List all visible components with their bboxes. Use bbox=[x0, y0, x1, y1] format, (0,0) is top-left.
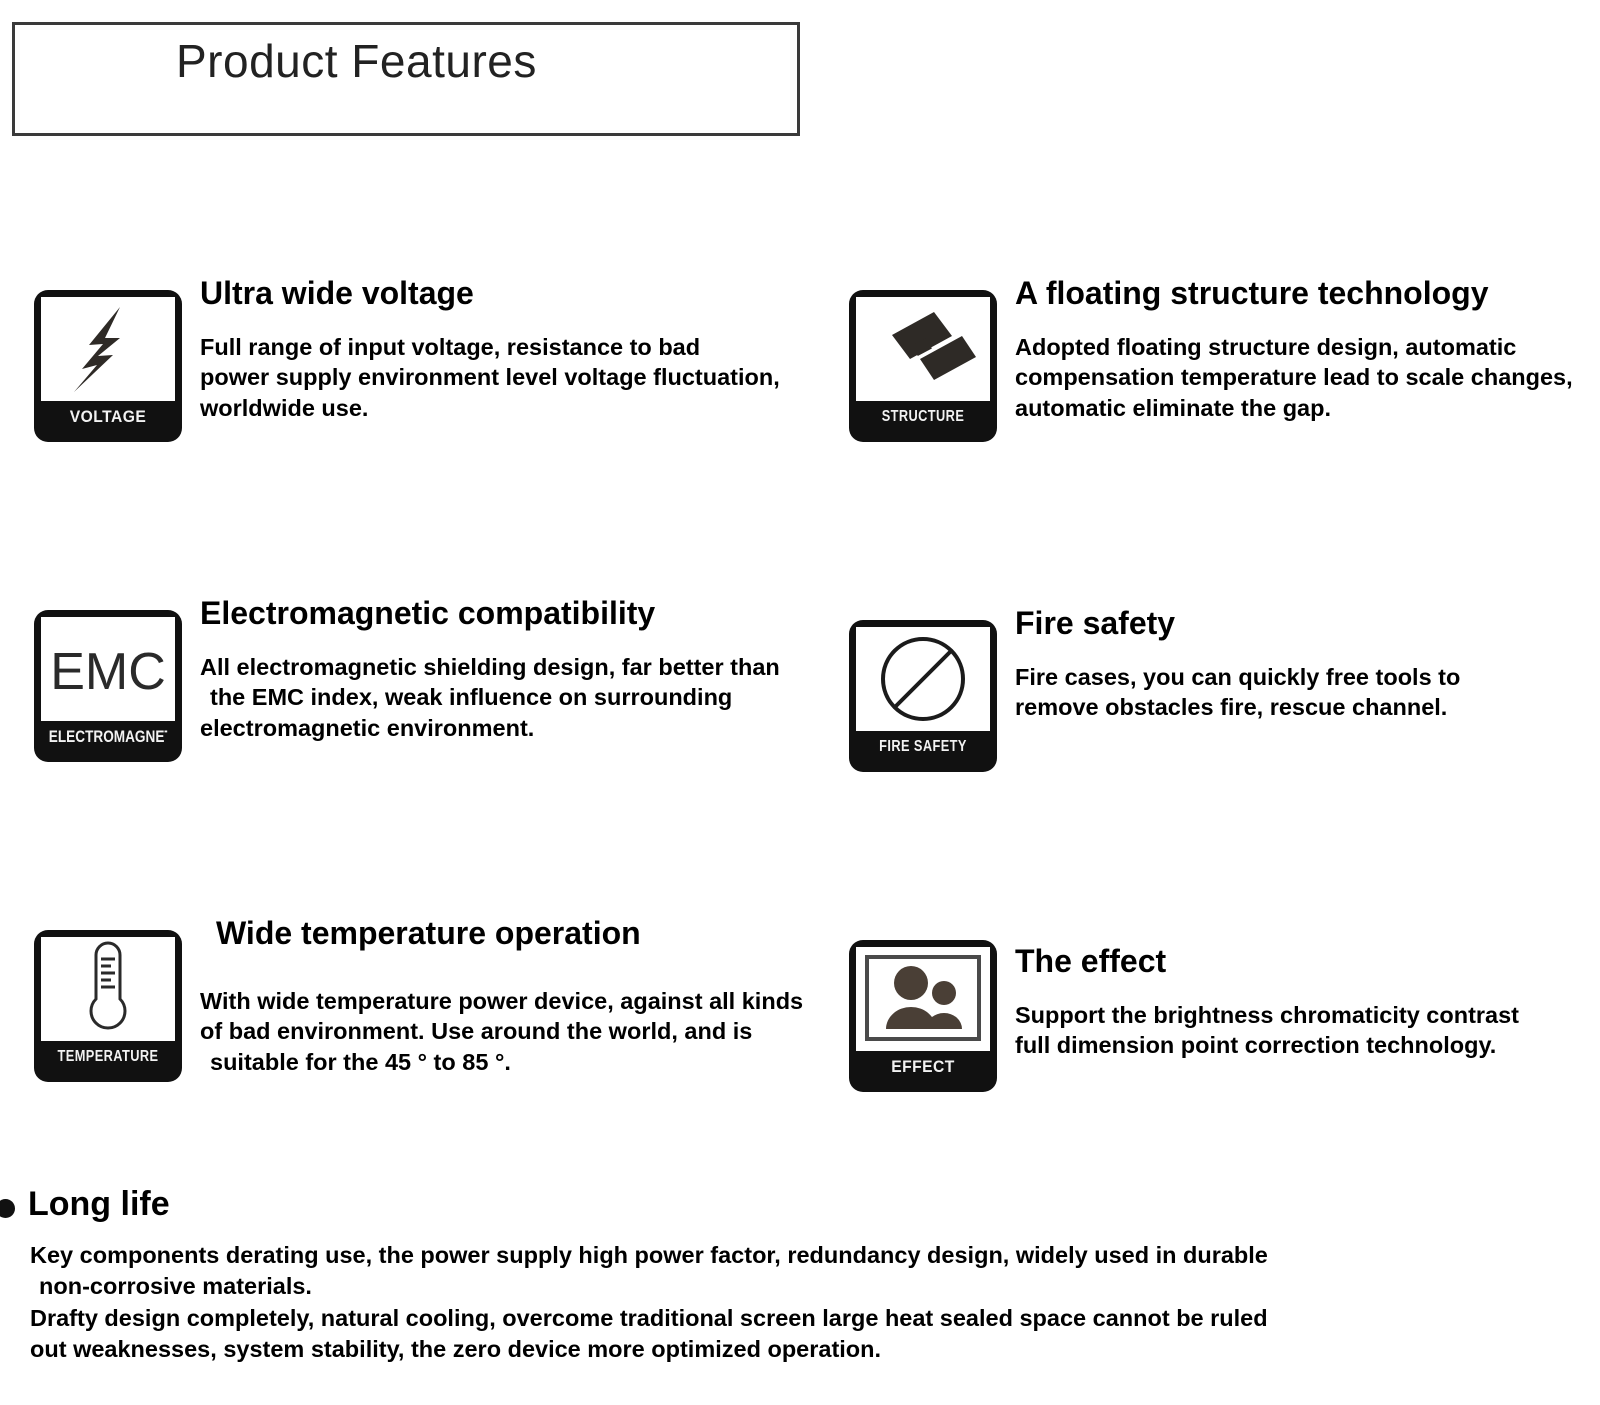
feature-title: Ultra wide voltage bbox=[200, 275, 850, 312]
feature-body: Full range of input voltage, resistance … bbox=[200, 332, 850, 424]
temperature-icon-caption: TEMPERATURE bbox=[49, 1036, 167, 1077]
feature-text-fire-safety: Fire safety Fire cases, you can quickly … bbox=[1015, 605, 1585, 723]
body-line: automatic eliminate the gap. bbox=[1015, 393, 1585, 424]
feature-item-emc: EMC ELECTROMAGNETISM Electromagnetic com… bbox=[34, 595, 850, 762]
feature-text-temperature: Wide temperature operation With wide tem… bbox=[200, 915, 850, 1077]
feature-body: Fire cases, you can quickly free tools t… bbox=[1015, 662, 1585, 723]
body-line: out weaknesses, system stability, the ze… bbox=[30, 1334, 1268, 1365]
floating-panels-glyph bbox=[856, 297, 990, 401]
lightning-bolt-glyph bbox=[41, 297, 175, 401]
body-line: Full range of input voltage, resistance … bbox=[200, 332, 850, 363]
feature-title: Fire safety bbox=[1015, 605, 1585, 642]
svg-text:EMC: EMC bbox=[50, 643, 166, 701]
feature-row: TEMPERATURE Wide temperature operation W… bbox=[0, 915, 1600, 1235]
feature-body: Adopted floating structure design, autom… bbox=[1015, 332, 1585, 424]
body-line: compensation temperature lead to scale c… bbox=[1015, 362, 1585, 393]
page-title: Product Features bbox=[176, 34, 537, 88]
body-line: of bad environment. Use around the world… bbox=[200, 1016, 850, 1047]
feature-text-effect: The effect Support the brightness chroma… bbox=[1015, 925, 1585, 1061]
body-line: suitable for the 45 ° to 85 °. bbox=[200, 1047, 850, 1078]
thermometer-glyph bbox=[41, 937, 175, 1041]
feature-text-emc: Electromagnetic compatibility All electr… bbox=[200, 595, 850, 743]
voltage-icon-face bbox=[41, 297, 175, 401]
feature-item-voltage: VOLTAGE Ultra wide voltage Full range of… bbox=[34, 275, 850, 442]
fire-safety-icon-face bbox=[856, 627, 990, 731]
effect-icon: EFFECT bbox=[849, 940, 997, 1092]
emc-icon-face: EMC bbox=[41, 617, 175, 721]
effect-icon-caption: EFFECT bbox=[855, 1046, 991, 1087]
feature-text-structure: A floating structure technology Adopted … bbox=[1015, 275, 1585, 423]
voltage-icon-caption: VOLTAGE bbox=[40, 396, 176, 437]
feature-body: With wide temperature power device, agai… bbox=[200, 986, 850, 1078]
feature-title: Wide temperature operation bbox=[200, 915, 850, 952]
feature-row: VOLTAGE Ultra wide voltage Full range of… bbox=[0, 275, 1600, 595]
fire-safety-icon-caption: FIRE SAFETY bbox=[864, 726, 982, 767]
body-line: Drafty design completely, natural coolin… bbox=[30, 1303, 1268, 1334]
emc-text-glyph: EMC bbox=[41, 617, 175, 721]
feature-body: Support the brightness chromaticity cont… bbox=[1015, 1000, 1585, 1061]
body-line: Fire cases, you can quickly free tools t… bbox=[1015, 662, 1585, 693]
prohibition-circle-glyph bbox=[856, 627, 990, 731]
structure-icon: STRUCTURE bbox=[849, 290, 997, 442]
body-line: remove obstacles fire, rescue channel. bbox=[1015, 692, 1585, 723]
temperature-icon: TEMPERATURE bbox=[34, 930, 182, 1082]
body-line: worldwide use. bbox=[200, 393, 850, 424]
feature-item-effect: EFFECT The effect Support the brightness… bbox=[849, 915, 1585, 1092]
effect-icon-face bbox=[856, 947, 990, 1051]
body-line: non-corrosive materials. bbox=[30, 1271, 1268, 1302]
feature-title: A floating structure technology bbox=[1015, 275, 1585, 312]
structure-icon-face bbox=[856, 297, 990, 401]
body-line: Key components derating use, the power s… bbox=[30, 1240, 1268, 1271]
fire-safety-icon: FIRE SAFETY bbox=[849, 620, 997, 772]
audience-screen-glyph bbox=[856, 947, 990, 1051]
feature-title: Electromagnetic compatibility bbox=[200, 595, 850, 632]
feature-title: The effect bbox=[1015, 943, 1585, 980]
body-line: the EMC index, weak influence on surroun… bbox=[200, 682, 850, 713]
feature-text-voltage: Ultra wide voltage Full range of input v… bbox=[200, 275, 850, 423]
feature-grid: VOLTAGE Ultra wide voltage Full range of… bbox=[0, 275, 1600, 1235]
voltage-icon: VOLTAGE bbox=[34, 290, 182, 442]
body-line: With wide temperature power device, agai… bbox=[200, 986, 850, 1017]
feature-item-temperature: TEMPERATURE Wide temperature operation W… bbox=[34, 915, 850, 1082]
long-life-title: Long life bbox=[28, 1186, 170, 1223]
long-life-body: Key components derating use, the power s… bbox=[30, 1240, 1268, 1365]
structure-icon-caption: STRUCTURE bbox=[864, 396, 982, 437]
body-line: full dimension point correction technolo… bbox=[1015, 1030, 1585, 1061]
feature-row: EMC ELECTROMAGNETISM Electromagnetic com… bbox=[0, 595, 1600, 915]
feature-item-fire-safety: FIRE SAFETY Fire safety Fire cases, you … bbox=[849, 595, 1585, 772]
body-line: All electromagnetic shielding design, fa… bbox=[200, 652, 850, 683]
emc-icon-caption: ELECTROMAGNETISM bbox=[49, 716, 167, 757]
feature-item-structure: STRUCTURE A floating structure technolog… bbox=[849, 275, 1585, 442]
emc-icon: EMC ELECTROMAGNETISM bbox=[34, 610, 182, 762]
body-line: electromagnetic environment. bbox=[200, 713, 850, 744]
body-line: power supply environment level voltage f… bbox=[200, 362, 850, 393]
body-line: Adopted floating structure design, autom… bbox=[1015, 332, 1585, 363]
temperature-icon-face bbox=[41, 937, 175, 1041]
feature-body: All electromagnetic shielding design, fa… bbox=[200, 652, 850, 744]
body-line: Support the brightness chromaticity cont… bbox=[1015, 1000, 1585, 1031]
